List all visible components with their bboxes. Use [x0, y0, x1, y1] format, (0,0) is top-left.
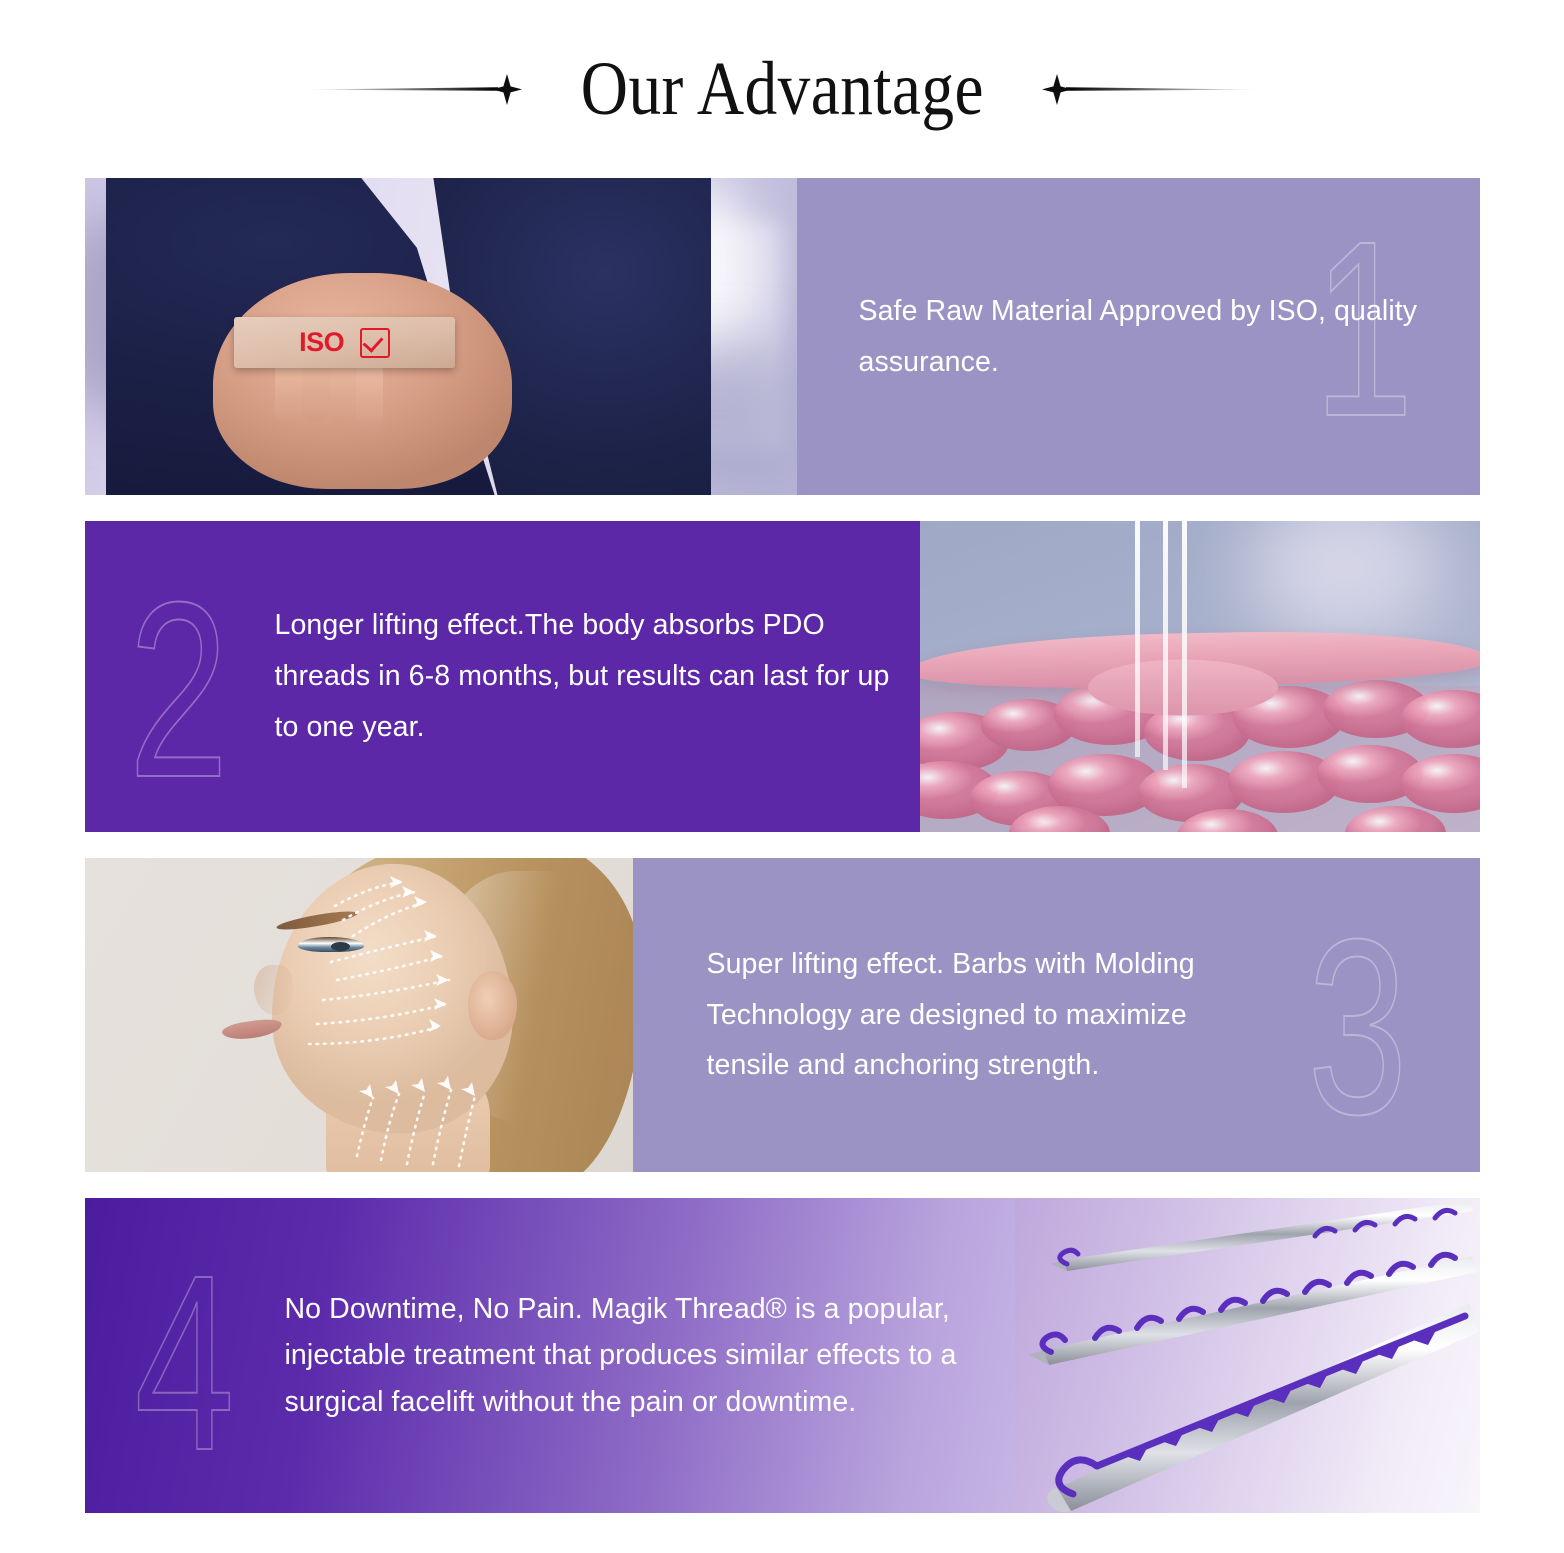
pdo-thread-strand — [1135, 521, 1140, 757]
page-title: Our Advantage — [558, 51, 1006, 127]
checkmark-icon — [360, 328, 390, 358]
page-header: Our Advantage — [0, 0, 1564, 178]
advantage-card-4: 4 No Downtime, No Pain. Magik Thread® is… — [85, 1198, 1480, 1513]
iso-certification-photo: ISO — [85, 178, 797, 495]
advantage-card-3: 3 Super lifting effect. Barbs with Moldi… — [85, 858, 1480, 1172]
advantage-card-1: ISO 1 Safe Raw Material Approved by ISO,… — [85, 178, 1480, 495]
ornament-right-icon — [1042, 72, 1262, 106]
advantage-description-1: Safe Raw Material Approved by ISO, quali… — [797, 286, 1480, 387]
needle-bottom — [1047, 1303, 1479, 1512]
title-with-ornaments: Our Advantage — [0, 51, 1564, 127]
pdo-thread-strand — [1163, 521, 1168, 770]
advantage-card-list: ISO 1 Safe Raw Material Approved by ISO,… — [85, 178, 1480, 1513]
needle-top — [1051, 1200, 1473, 1271]
advantage-text-panel-4: 4 No Downtime, No Pain. Magik Thread® is… — [85, 1198, 1015, 1513]
advantage-description-4: No Downtime, No Pain. Magik Thread® is a… — [85, 1286, 1015, 1424]
advantage-text-panel-3: 3 Super lifting effect. Barbs with Moldi… — [633, 858, 1480, 1172]
advantage-card-2: 2 Longer lifting effect.The body absorbs… — [85, 521, 1480, 832]
advantage-text-panel-1: 1 Safe Raw Material Approved by ISO, qua… — [797, 178, 1480, 495]
pdo-thread-strand — [1182, 521, 1187, 788]
advantage-description-3: Super lifting effect. Barbs with Molding… — [633, 939, 1480, 1091]
advantage-text-panel-2: 2 Longer lifting effect.The body absorbs… — [85, 521, 920, 832]
advantage-description-2: Longer lifting effect.The body absorbs P… — [85, 600, 920, 752]
barbed-thread-needle-illustration — [1015, 1198, 1480, 1513]
skin-collagen-illustration — [920, 521, 1480, 832]
iso-label: ISO — [299, 327, 344, 358]
iso-wooden-block: ISO — [234, 317, 455, 368]
facial-lifting-photo — [85, 858, 633, 1172]
ornament-left-icon — [302, 72, 522, 106]
